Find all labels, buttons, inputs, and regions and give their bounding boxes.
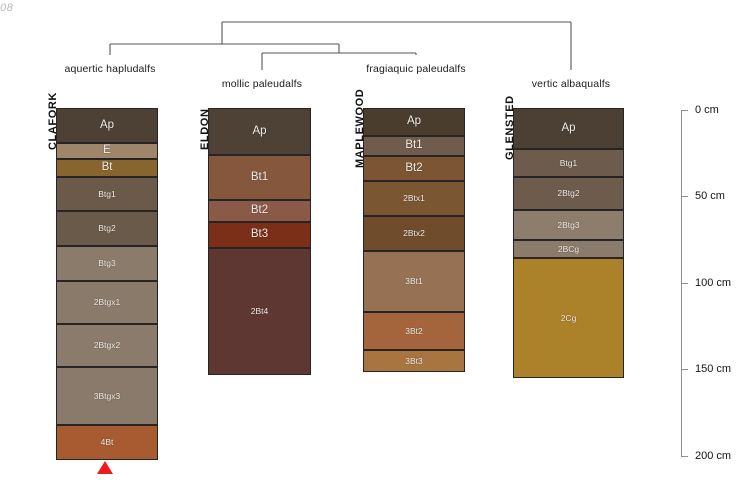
horizon-label: Btg3 xyxy=(98,259,116,268)
horizon-e[interactable]: E xyxy=(56,143,158,159)
horizon-label: 3Bt2 xyxy=(405,327,423,336)
horizon-ap[interactable]: Ap xyxy=(208,108,311,155)
horizon-label: Ap xyxy=(100,120,114,132)
horizon-bt1[interactable]: Bt1 xyxy=(363,136,465,156)
taxonomy-label-1: mollic paleudalfs xyxy=(222,78,302,90)
depth-tick-label-150: 150 cm xyxy=(695,363,731,375)
horizon-label: 2Btg2 xyxy=(557,189,579,198)
horizon-label: 2Btx2 xyxy=(403,229,425,238)
horizon-2cg[interactable]: 2Cg xyxy=(513,258,624,378)
depth-tick-150 xyxy=(681,369,688,370)
horizon-3bt2[interactable]: 3Bt2 xyxy=(363,312,465,350)
horizon-2btgx2[interactable]: 2Btgx2 xyxy=(56,324,158,367)
depth-tick-200 xyxy=(681,456,688,457)
horizon-2btx2[interactable]: 2Btx2 xyxy=(363,216,465,251)
horizon-label: Bt1 xyxy=(405,140,422,152)
horizon-label: 3Btgx3 xyxy=(94,392,120,401)
horizon-btg1[interactable]: Btg1 xyxy=(513,149,624,177)
horizon-label: Bt2 xyxy=(251,205,268,217)
horizon-label: 2Btgx1 xyxy=(94,298,120,307)
horizon-label: Bt1 xyxy=(251,172,268,184)
depth-tick-50 xyxy=(681,196,688,197)
horizon-btg3[interactable]: Btg3 xyxy=(56,246,158,281)
horizon-label: 2BCg xyxy=(558,245,579,254)
dendrogram-lines xyxy=(0,0,750,100)
horizon-bt[interactable]: Bt xyxy=(56,159,158,177)
horizon-btg1[interactable]: Btg1 xyxy=(56,177,158,211)
horizon-label: 4Bt xyxy=(101,438,114,447)
horizon-4bt[interactable]: 4Bt xyxy=(56,425,158,460)
horizon-bt1[interactable]: Bt1 xyxy=(208,155,311,200)
horizon-2btx1[interactable]: 2Btx1 xyxy=(363,181,465,216)
horizon-2btgx1[interactable]: 2Btgx1 xyxy=(56,281,158,324)
horizon-label: 2Bt4 xyxy=(251,307,269,316)
horizon-2btg2[interactable]: 2Btg2 xyxy=(513,177,624,210)
horizon-ap[interactable]: Ap xyxy=(56,108,158,143)
red-triangle-marker-icon xyxy=(97,461,113,474)
depth-tick-label-0: 0 cm xyxy=(695,104,719,116)
depth-tick-label-50: 50 cm xyxy=(695,190,725,202)
horizon-label: Ap xyxy=(561,123,575,135)
taxonomy-dendrogram: aquertic hapludalfsmollic paleudalfsfrag… xyxy=(0,0,750,100)
horizon-label: Ap xyxy=(407,116,421,128)
horizon-bt2[interactable]: Bt2 xyxy=(363,156,465,181)
horizon-label: Ap xyxy=(252,126,266,138)
horizon-3bt1[interactable]: 3Bt1 xyxy=(363,251,465,312)
depth-tick-label-100: 100 cm xyxy=(695,277,731,289)
horizon-label: Btg1 xyxy=(560,159,578,168)
depth-scale-axis: 0 cm50 cm100 cm150 cm200 cm xyxy=(681,0,750,500)
horizon-label: 3Bt1 xyxy=(405,277,423,286)
taxonomy-label-2: fragiaquic paleudalfs xyxy=(366,63,465,75)
horizon-label: 3Bt3 xyxy=(405,357,423,366)
horizon-2bt4[interactable]: 2Bt4 xyxy=(208,248,311,375)
horizon-label: 2Btx1 xyxy=(403,194,425,203)
horizon-label: Bt xyxy=(102,162,113,174)
horizon-label: Btg2 xyxy=(98,224,116,233)
horizon-3btgx3[interactable]: 3Btgx3 xyxy=(56,367,158,425)
taxonomy-label-3: vertic albaqualfs xyxy=(532,78,610,90)
depth-tick-label-200: 200 cm xyxy=(695,450,731,462)
horizon-2btg3[interactable]: 2Btg3 xyxy=(513,210,624,240)
depth-tick-100 xyxy=(681,283,688,284)
horizon-label: Bt2 xyxy=(405,163,422,175)
horizon-btg2[interactable]: Btg2 xyxy=(56,211,158,246)
horizon-ap[interactable]: Ap xyxy=(513,108,624,149)
depth-tick-0 xyxy=(681,110,688,111)
taxonomy-label-0: aquertic hapludalfs xyxy=(65,63,156,75)
horizon-label: Bt3 xyxy=(251,229,268,241)
horizon-2bcg[interactable]: 2BCg xyxy=(513,240,624,258)
horizon-label: 2Cg xyxy=(561,314,577,323)
horizon-label: 2Btg3 xyxy=(557,221,579,230)
soil-profile-figure: -08 aquertic hapludalfsmollic paleudalfs… xyxy=(0,0,750,500)
horizon-bt2[interactable]: Bt2 xyxy=(208,200,311,222)
horizon-label: E xyxy=(103,145,111,157)
horizon-3bt3[interactable]: 3Bt3 xyxy=(363,350,465,372)
horizon-bt3[interactable]: Bt3 xyxy=(208,222,311,248)
horizon-label: 2Btgx2 xyxy=(94,341,120,350)
horizon-label: Btg1 xyxy=(98,190,116,199)
horizon-ap[interactable]: Ap xyxy=(363,108,465,136)
